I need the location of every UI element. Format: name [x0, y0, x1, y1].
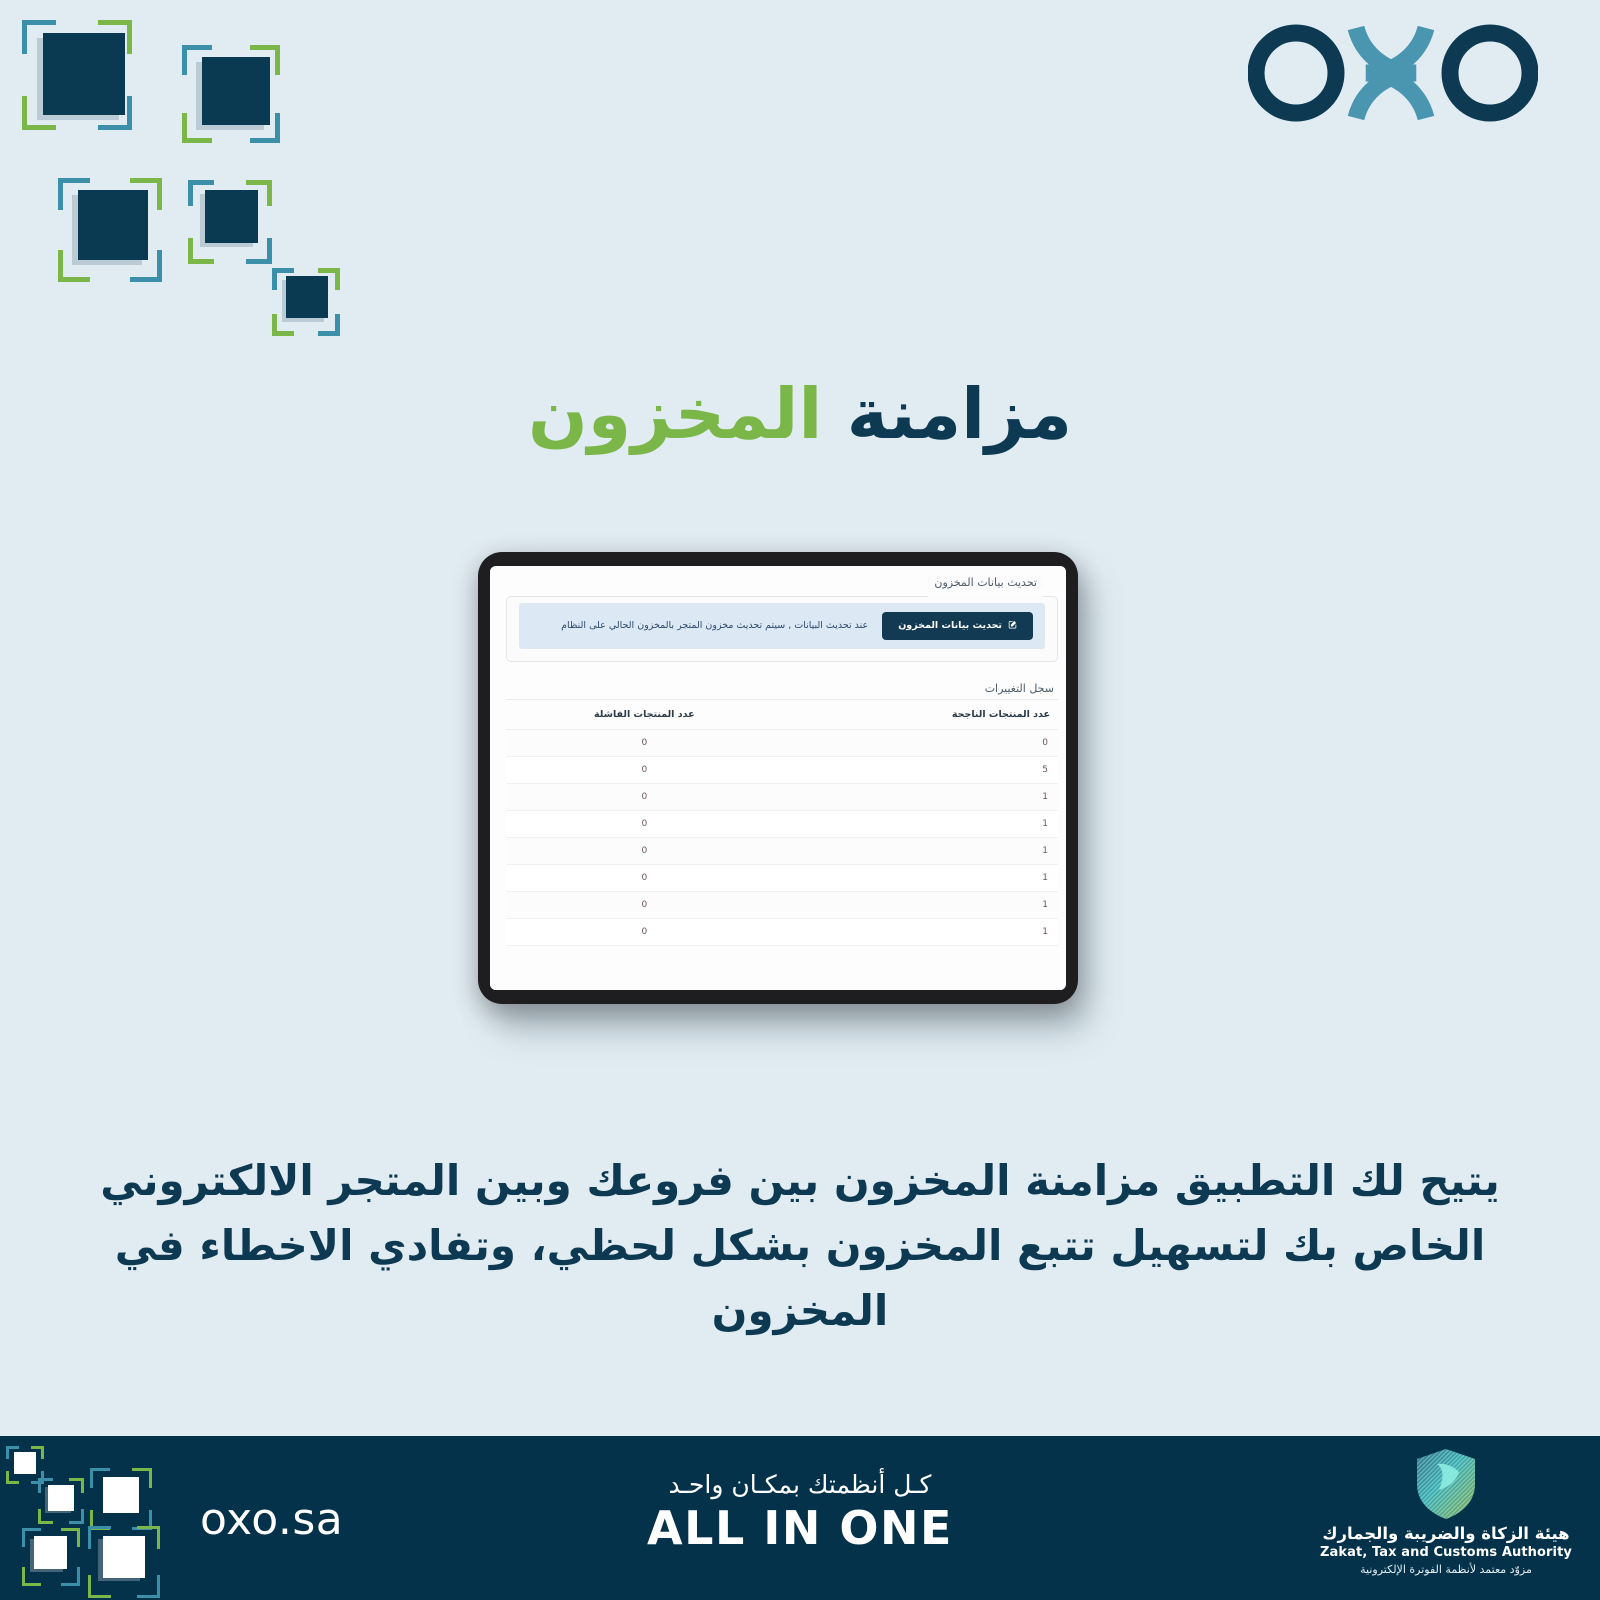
decor-square — [88, 1526, 160, 1598]
cell-success: 1 — [783, 918, 1058, 945]
poster-canvas: مزامنة المخزون تحديث بيانات المخزون — [0, 0, 1600, 1600]
cell-failed: 0 — [506, 783, 783, 810]
update-stock-button-label: تحديث بيانات المخزون — [898, 620, 1002, 631]
cell-success: 1 — [783, 810, 1058, 837]
change-log-legend: سجل التغييرات — [985, 682, 1058, 695]
edit-square-icon — [1008, 620, 1017, 632]
table-row: 10 — [506, 891, 1058, 918]
stock-update-alert-text: عند تحديث البيانات , سيتم تحديث مخزون ال… — [531, 619, 868, 633]
cell-success: 1 — [783, 837, 1058, 864]
description-line-1: يتيح لك التطبيق مزامنة المخزون بين فروعك… — [80, 1148, 1520, 1213]
description-line-2: الخاص بك لتسهيل تتبع المخزون بشكل لحظي، … — [80, 1213, 1520, 1343]
cell-failed: 0 — [506, 837, 783, 864]
table-row: 10 — [506, 783, 1058, 810]
cell-failed: 0 — [506, 810, 783, 837]
decorative-squares-top-left — [0, 0, 360, 350]
decor-square — [188, 180, 272, 264]
decor-square — [58, 178, 162, 282]
table-row: 50 — [506, 756, 1058, 783]
cell-success: 1 — [783, 891, 1058, 918]
table-row: 00 — [506, 729, 1058, 756]
cell-failed: 0 — [506, 918, 783, 945]
cell-failed: 0 — [506, 864, 783, 891]
description-block: يتيح لك التطبيق مزامنة المخزون بين فروعك… — [80, 1148, 1520, 1343]
cell-failed: 0 — [506, 756, 783, 783]
website-link[interactable]: oxo.sa — [200, 1494, 343, 1545]
page-title: مزامنة المخزون — [0, 376, 1600, 453]
tablet-frame: تحديث بيانات المخزون تحديث بيانات المخزو… — [478, 552, 1078, 1004]
decor-square — [22, 20, 132, 130]
column-header-failed: عدد المنتجات الفاشلة — [506, 700, 783, 730]
change-log-head: عدد المنتجات الناجحة عدد المنتجات الفاشل… — [506, 700, 1058, 730]
table-row: 10 — [506, 837, 1058, 864]
change-log-card: سجل التغييرات عدد المنتجات الناجحة عدد ا… — [506, 682, 1058, 946]
table-row: 10 — [506, 918, 1058, 945]
zatca-subtitle: مزوّد معتمد لأنظمة الفوترة الإلكترونية — [1320, 1563, 1572, 1576]
tablet-screen: تحديث بيانات المخزون تحديث بيانات المخزو… — [490, 566, 1066, 990]
decorative-squares-footer — [0, 1436, 210, 1600]
title-green: المخزون — [528, 373, 822, 455]
stock-update-alert: تحديث بيانات المخزون عند تحديث البيانات … — [519, 603, 1045, 649]
cell-success: 0 — [783, 729, 1058, 756]
stock-update-card: تحديث بيانات المخزون تحديث بيانات المخزو… — [506, 590, 1058, 662]
cell-failed: 0 — [506, 729, 783, 756]
decor-square — [38, 1478, 84, 1524]
column-header-success: عدد المنتجات الناجحة — [783, 700, 1058, 730]
decor-square — [22, 1528, 80, 1586]
table-row: 10 — [506, 810, 1058, 837]
tablet-mockup: تحديث بيانات المخزون تحديث بيانات المخزو… — [478, 552, 1078, 1012]
change-log-table: عدد المنتجات الناجحة عدد المنتجات الفاشل… — [506, 700, 1058, 946]
cell-success: 5 — [783, 756, 1058, 783]
footer-bar: هيئة الزكاة والضريبة والجمارك Zakat, Tax… — [0, 1436, 1600, 1600]
table-row: 10 — [506, 864, 1058, 891]
cell-success: 1 — [783, 864, 1058, 891]
app-viewport: تحديث بيانات المخزون تحديث بيانات المخزو… — [490, 566, 1066, 990]
table-header-row: عدد المنتجات الناجحة عدد المنتجات الفاشل… — [506, 700, 1058, 730]
decor-square — [90, 1468, 152, 1530]
cell-success: 1 — [783, 783, 1058, 810]
change-log-body: 0050101010101010 — [506, 729, 1058, 945]
decor-square — [182, 45, 280, 143]
change-log-legend-wrap: سجل التغييرات — [506, 682, 1058, 700]
decor-square — [272, 268, 340, 336]
oxo-logo — [1248, 18, 1538, 132]
title-dark: مزامنة — [847, 373, 1072, 455]
update-stock-button[interactable]: تحديث بيانات المخزون — [882, 612, 1033, 640]
stock-update-legend: تحديث بيانات المخزون — [928, 576, 1043, 589]
cell-failed: 0 — [506, 891, 783, 918]
